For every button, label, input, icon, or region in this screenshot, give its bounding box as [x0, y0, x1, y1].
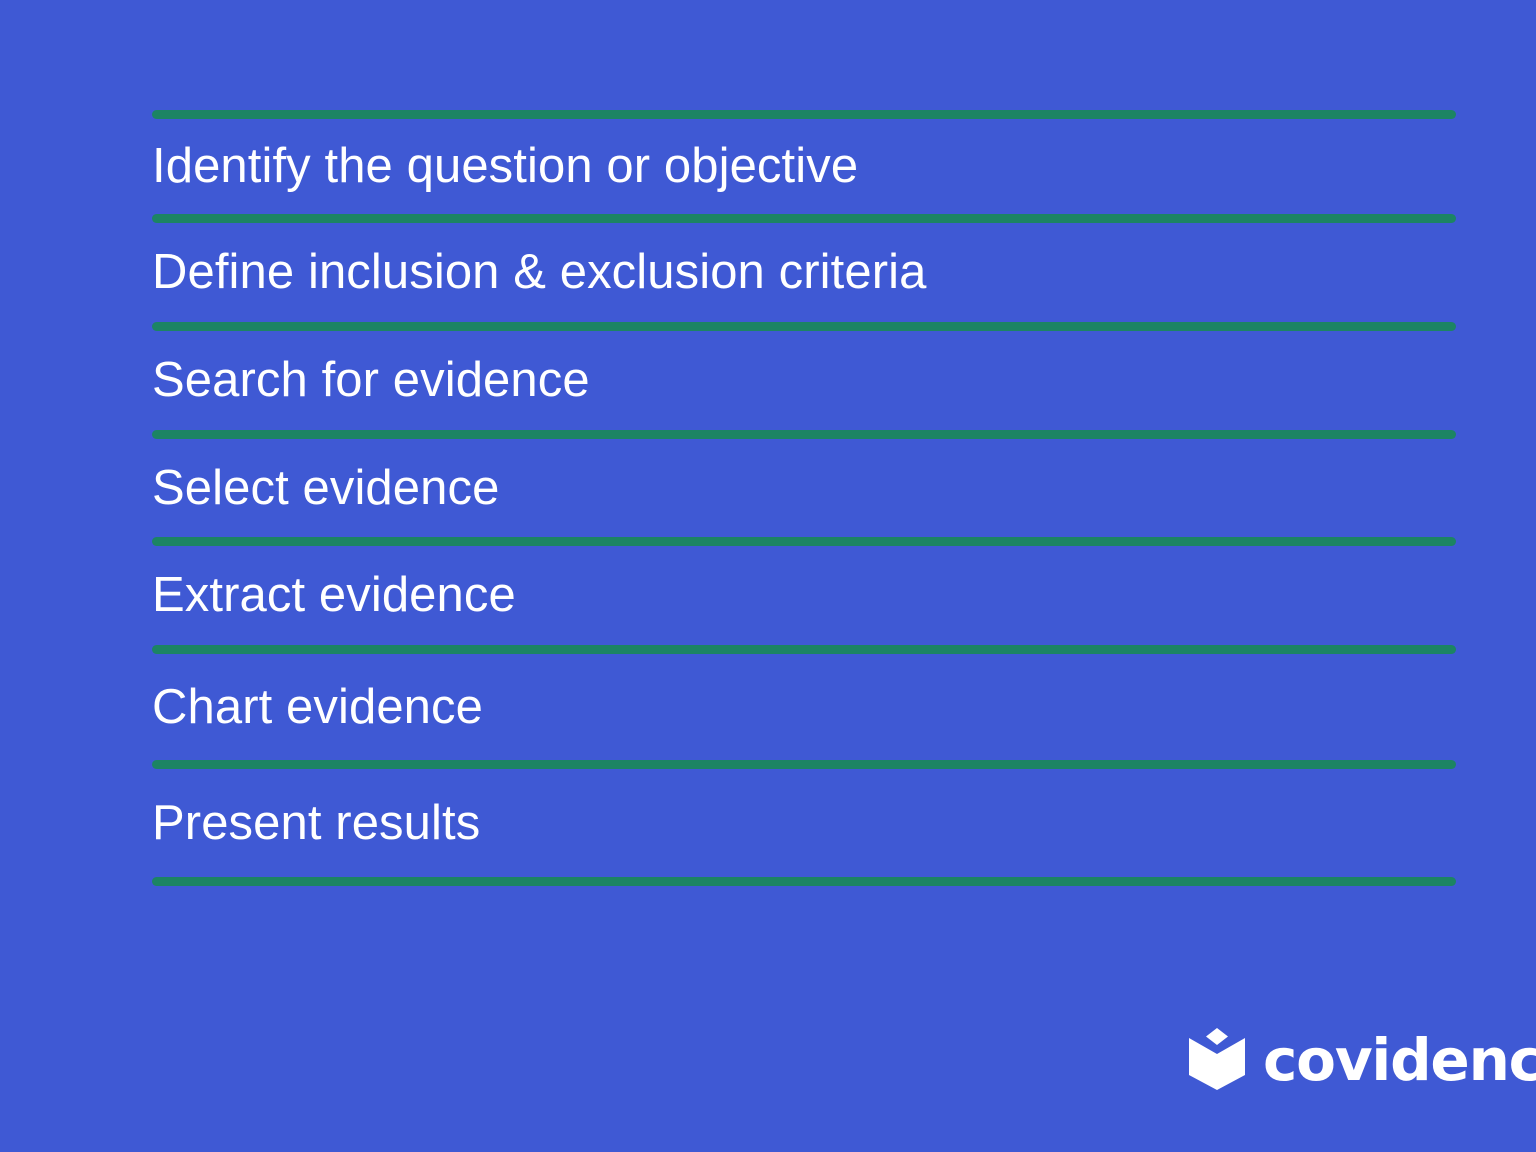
step-label: Present results [152, 799, 480, 848]
step-item: Chart evidence [152, 654, 1456, 760]
step-divider [152, 110, 1456, 119]
step-label: Extract evidence [152, 571, 516, 620]
step-item: Define inclusion & exclusion criteria [152, 223, 1456, 322]
step-divider [152, 322, 1456, 331]
covidence-shield-icon [1189, 1026, 1245, 1090]
step-divider [152, 645, 1456, 654]
step-label: Select evidence [152, 464, 499, 513]
step-item: Identify the question or objective [152, 119, 1456, 214]
step-item: Present results [152, 769, 1456, 877]
slide-canvas: Identify the question or objective Defin… [0, 0, 1536, 1152]
step-item: Extract evidence [152, 546, 1456, 645]
covidence-logo: covidence [1189, 1026, 1536, 1090]
step-label: Search for evidence [152, 356, 590, 405]
step-divider [152, 760, 1456, 769]
step-divider [152, 430, 1456, 439]
steps-list: Identify the question or objective Defin… [152, 110, 1456, 886]
step-divider [152, 214, 1456, 223]
step-divider [152, 537, 1456, 546]
step-item: Search for evidence [152, 331, 1456, 430]
step-divider [152, 877, 1456, 886]
step-label: Identify the question or objective [152, 142, 858, 191]
step-item: Select evidence [152, 439, 1456, 537]
step-label: Define inclusion & exclusion criteria [152, 248, 926, 297]
covidence-wordmark: covidence [1263, 1031, 1536, 1089]
step-label: Chart evidence [152, 683, 483, 732]
